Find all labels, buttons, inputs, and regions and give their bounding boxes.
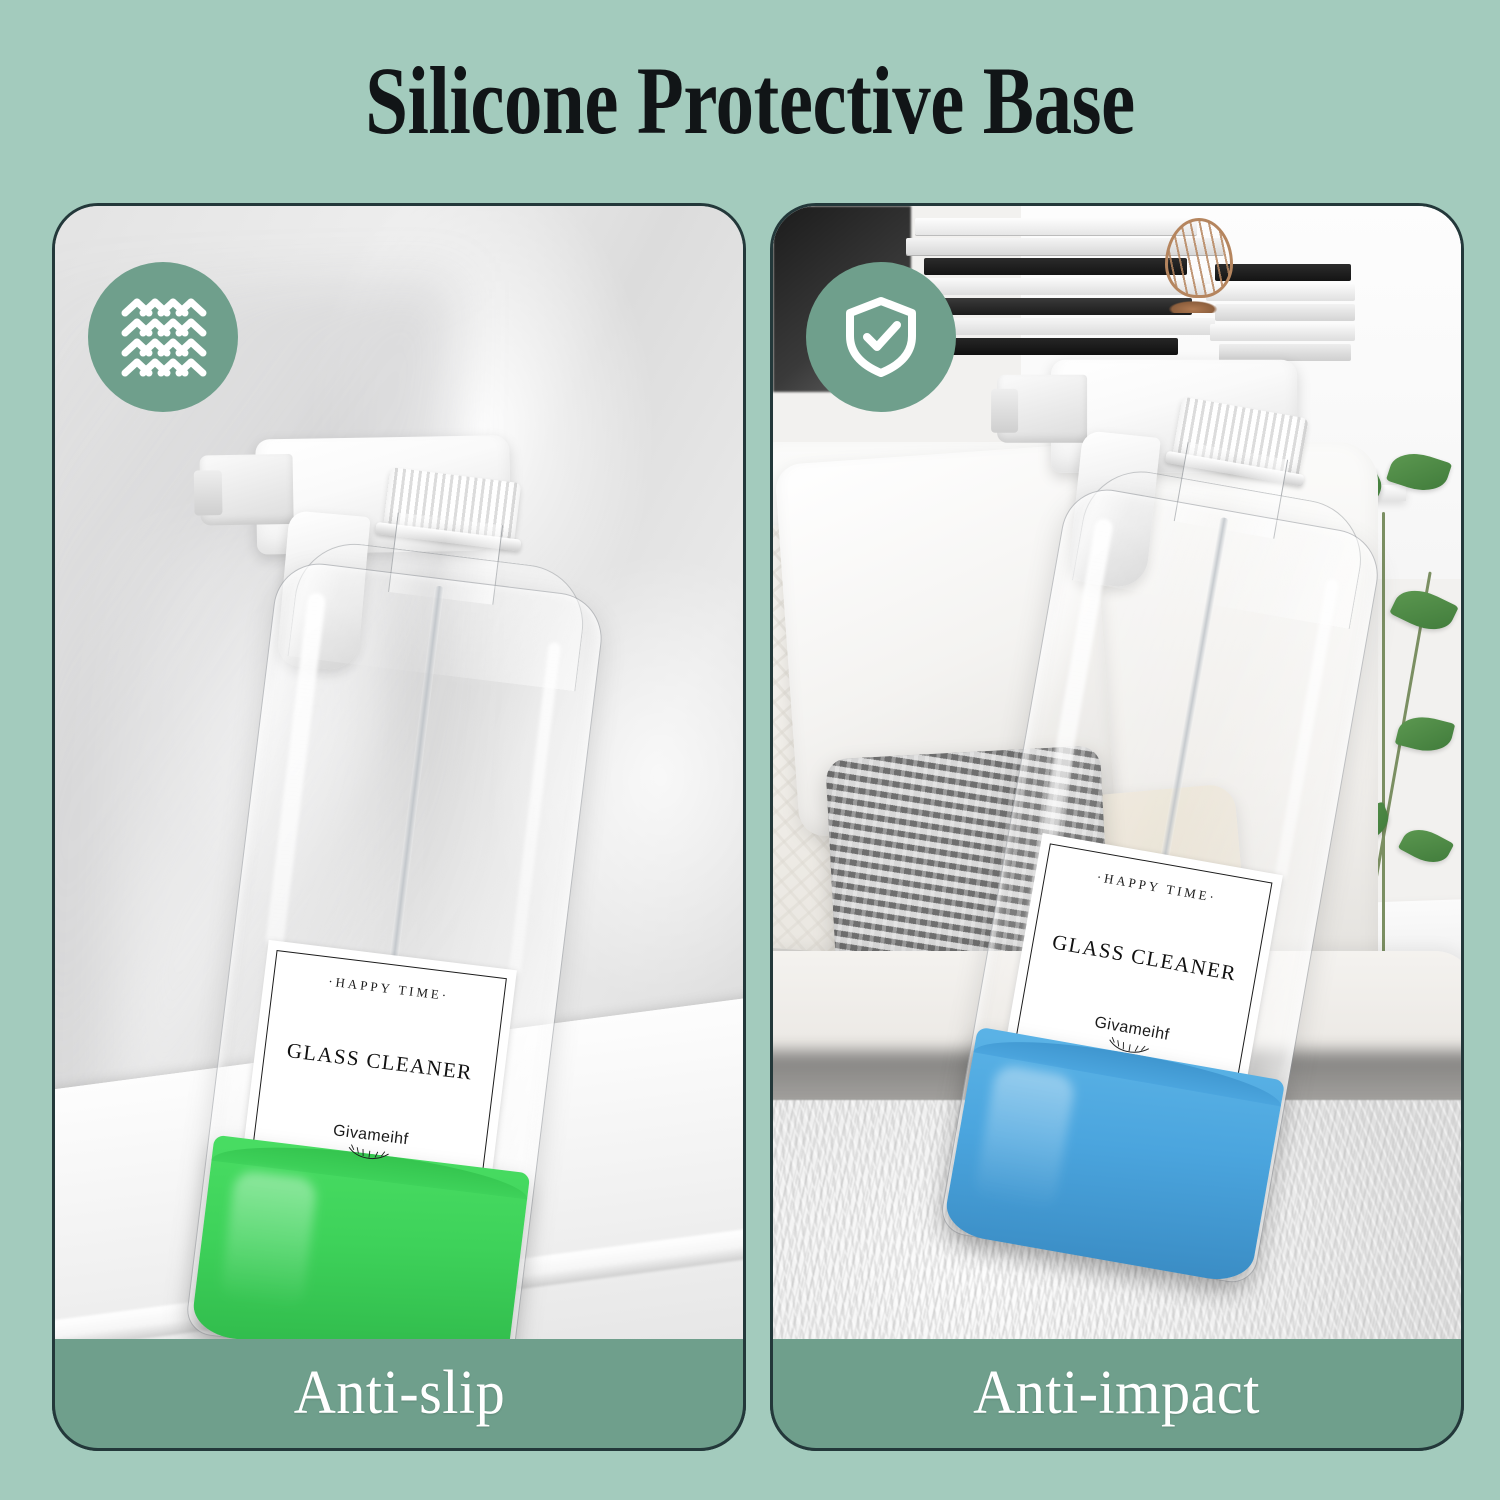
label-tagline: ·HAPPY TIME· — [327, 974, 450, 1005]
book-stack-row — [924, 258, 1187, 275]
silicone-base-sheen — [220, 1170, 318, 1311]
book-stack-row — [1210, 324, 1355, 341]
label-tagline: ·HAPPY TIME· — [1096, 869, 1219, 906]
badge-anti-impact — [806, 262, 956, 412]
book-stack-row — [1215, 264, 1351, 281]
plant-leaf — [1397, 822, 1453, 871]
label-product-name: GLASS CLEANER — [1050, 929, 1238, 986]
book-stack-row — [1219, 344, 1351, 361]
badge-anti-slip — [88, 262, 238, 412]
caption-label: Anti-slip — [293, 1358, 504, 1429]
caption-anti-impact: Anti-impact — [770, 1339, 1464, 1451]
silicone-base-green — [190, 1135, 530, 1372]
page-title: Silicone Protective Base — [150, 48, 1350, 154]
caption-label: Anti-impact — [974, 1358, 1261, 1429]
caption-anti-slip: Anti-slip — [52, 1339, 746, 1451]
book-stack-row — [920, 298, 1192, 315]
label-product-name: GLASS CLEANER — [286, 1038, 474, 1086]
sprayer-nozzle-tip — [991, 389, 1018, 433]
plant-stem — [1382, 512, 1385, 969]
plant-leaf — [1389, 580, 1459, 639]
book-stack-row — [1215, 304, 1356, 321]
herringbone-texture-icon — [117, 291, 209, 383]
book-stack-row — [915, 218, 1197, 235]
sprayer-nozzle-tip — [194, 470, 223, 515]
shield-check-icon — [838, 294, 924, 380]
wood-stand — [1158, 218, 1228, 313]
book-stack-row — [924, 338, 1178, 355]
silicone-base-sheen — [973, 1064, 1077, 1213]
infographic-canvas: Silicone Protective Base — [0, 0, 1500, 1500]
